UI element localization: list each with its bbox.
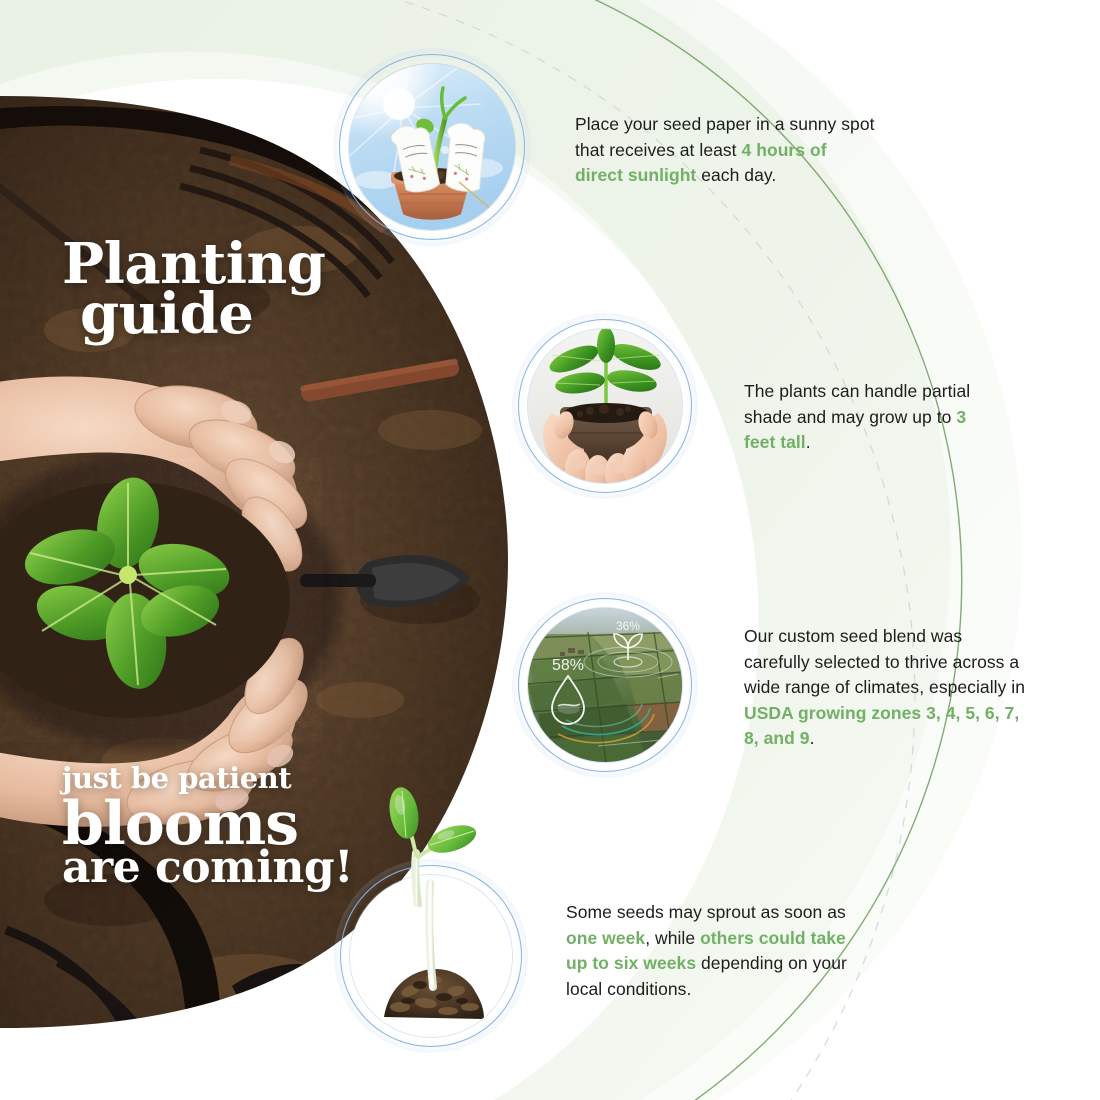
step-node-sunlight — [333, 48, 531, 246]
body-text: Our custom seed blend was carefully sele… — [744, 626, 1025, 697]
step-text-sunlight: Place your seed paper in a sunny spot th… — [575, 112, 875, 189]
body-text: . — [810, 728, 815, 748]
growth-value: 36% — [616, 619, 640, 633]
body-text: Place your seed paper in a sunny spot th… — [575, 114, 875, 160]
step-text-shade: The plants can handle partial shade and … — [744, 379, 974, 456]
body-text: Some seeds may sprout as soon as — [566, 902, 846, 922]
step-text-zones: Our custom seed blend was carefully sele… — [744, 624, 1029, 752]
step-node-sprout-time — [334, 859, 528, 1053]
body-text: each day. — [696, 165, 776, 185]
step-image-shade[interactable] — [528, 329, 682, 483]
highlight-text: USDA growing zones 3, 4, 5, 6, 7, 8, and… — [744, 703, 1019, 749]
body-text: , while — [645, 928, 700, 948]
step-node-shade — [512, 313, 698, 499]
step-node-zones: 58% 36% — [512, 592, 698, 778]
moisture-value: 58% — [552, 657, 584, 674]
body-text: . — [806, 432, 811, 452]
highlight-text: one week — [566, 928, 645, 948]
planting-guide-infographic: Planting guide just be patient blooms ar… — [0, 0, 1100, 1100]
hero-coming: are coming! — [62, 845, 353, 891]
step-image-sprout-time[interactable] — [350, 875, 512, 1037]
step-image-sunlight[interactable] — [349, 64, 515, 230]
page-title-line2: guide — [80, 286, 253, 342]
step-text-sprout-time: Some seeds may sprout as soon as one wee… — [566, 900, 871, 1002]
body-text: The plants can handle partial shade and … — [744, 381, 970, 427]
step-image-zones[interactable]: 58% 36% — [528, 608, 682, 762]
